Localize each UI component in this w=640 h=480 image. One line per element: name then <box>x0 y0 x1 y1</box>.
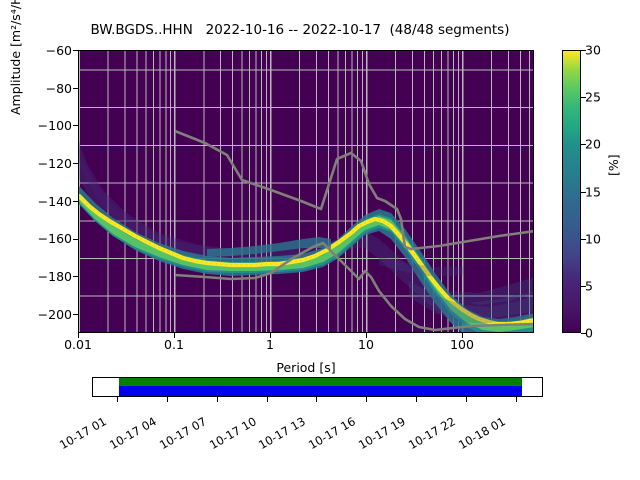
data-coverage-timeline[interactable] <box>92 377 543 397</box>
page-title: BW.BGDS..HHN 2022-10-16 -- 2022-10-17 (4… <box>0 22 600 38</box>
xtick-label: 0.01 <box>64 337 92 352</box>
cbtick-label: 20 <box>585 137 601 152</box>
timeline-tick-label: 10-17 16 <box>306 414 358 452</box>
timeline-tick-label: 10-17 19 <box>356 414 408 452</box>
timeline-tick-label: 10-17 22 <box>406 414 458 452</box>
ytick-label: −200 <box>18 307 72 322</box>
cbtick-label: 15 <box>585 184 601 199</box>
ytick-label: −180 <box>18 269 72 284</box>
cbtick-label: 25 <box>585 90 601 105</box>
xtick-label: 100 <box>450 337 474 352</box>
cbtick-label: 5 <box>585 278 593 293</box>
grid-lines <box>79 51 534 333</box>
cbtick-label: 30 <box>585 43 601 58</box>
ytick-label: −60 <box>26 43 72 58</box>
ytick-label: −140 <box>18 194 72 209</box>
xtick-mark <box>174 333 175 338</box>
ppsd-plot-axes <box>78 50 534 333</box>
cbtick-label: 0 <box>585 326 593 341</box>
ytick-mark <box>73 201 78 202</box>
xtick-label: 0.1 <box>164 337 184 352</box>
ytick-label: −100 <box>18 118 72 133</box>
timeline-tick-label: 10-18 01 <box>456 414 508 452</box>
ytick-label: −80 <box>26 81 72 96</box>
ytick-mark <box>73 163 78 164</box>
ytick-label: −160 <box>18 231 72 246</box>
xtick-mark <box>270 333 271 338</box>
colorbar <box>562 50 581 333</box>
timeline-tick-label: 10-17 10 <box>207 414 259 452</box>
ytick-mark <box>73 50 78 51</box>
colorbar-label: [%] <box>606 154 621 176</box>
cbtick-label: 10 <box>585 231 601 246</box>
timeline-inner <box>93 378 542 396</box>
ytick-mark <box>73 314 78 315</box>
timeline-tick-label: 10-17 01 <box>57 414 109 452</box>
ytick-mark <box>73 88 78 89</box>
timeline-tick-label: 10-17 04 <box>107 414 159 452</box>
ytick-mark <box>73 125 78 126</box>
timeline-data-blue <box>119 386 522 396</box>
x-axis-label: Period [s] <box>78 360 534 375</box>
xtick-mark <box>78 333 79 338</box>
density-longperiod-tail <box>379 257 534 323</box>
ppsd-density-histogram <box>79 141 534 333</box>
xtick-label: 1 <box>266 337 274 352</box>
ppsd-canvas <box>79 51 534 333</box>
ytick-mark <box>73 239 78 240</box>
xtick-mark <box>462 333 463 338</box>
timeline-coverage-green <box>119 378 522 386</box>
y-axis-label: Amplitude [m²/s⁴/Hz] [dB] <box>8 0 23 115</box>
ytick-mark <box>73 276 78 277</box>
timeline-tick-label: 10-17 13 <box>256 414 308 452</box>
xtick-mark <box>366 333 367 338</box>
ytick-label: −120 <box>18 156 72 171</box>
xtick-label: 10 <box>358 337 374 352</box>
timeline-tick-label: 10-17 07 <box>157 414 209 452</box>
